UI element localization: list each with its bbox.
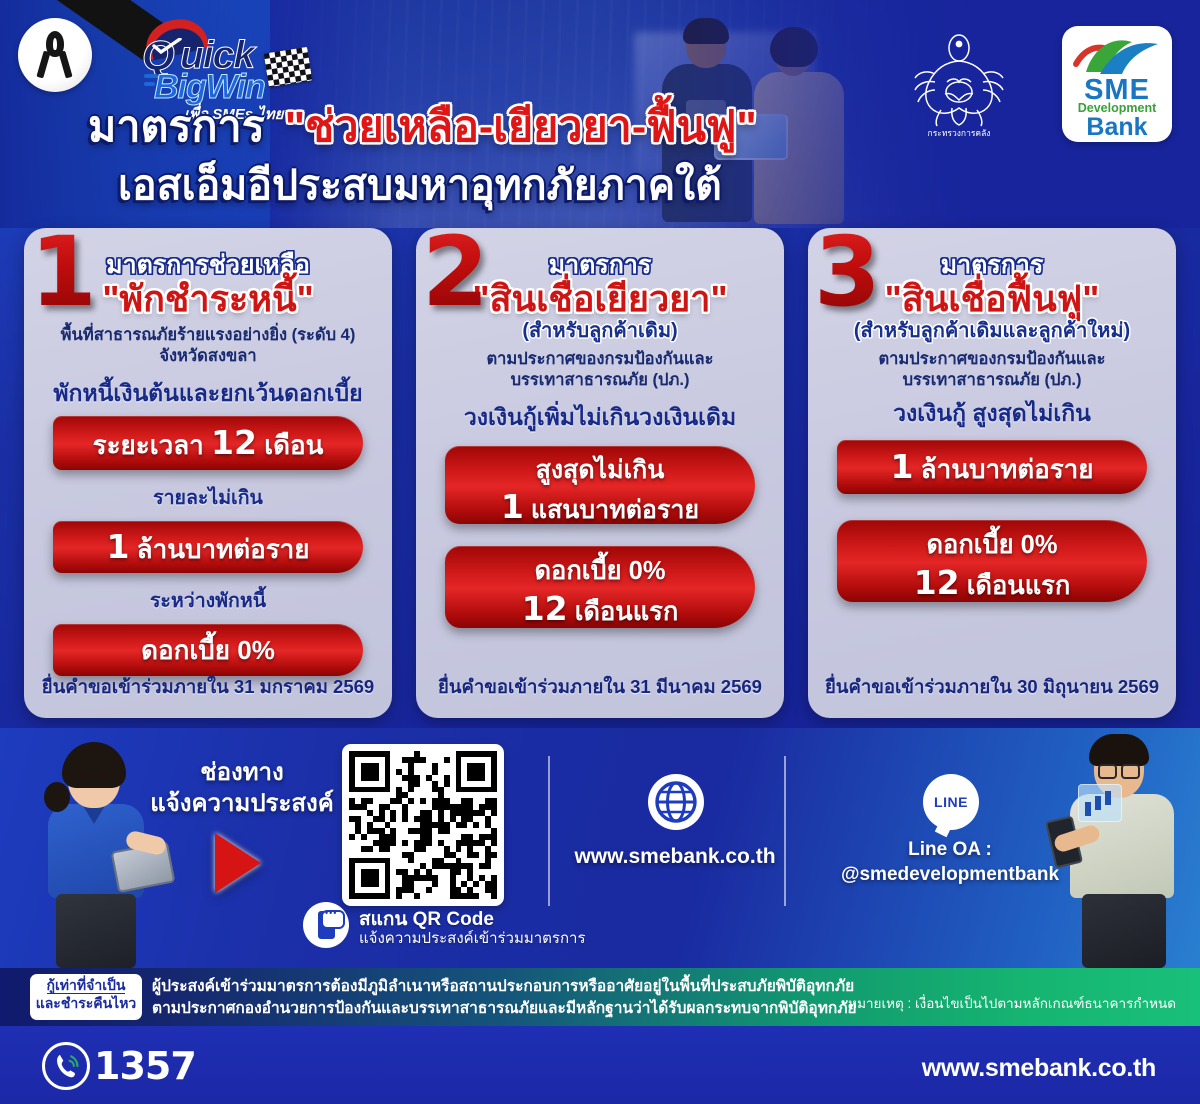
- sme-swoosh-icon: [1070, 34, 1164, 76]
- card1-pill1-num: 12: [211, 423, 257, 462]
- card3-pill-interest: ดอกเบี้ย 0% 12 เดือนแรก: [837, 520, 1147, 602]
- disclaimer-line1: ผู้ประสงค์เข้าร่วมมาตรการต้องมีภูมิลำเนา…: [152, 976, 857, 998]
- card3-note: ตามประกาศของกรมป้องกันและ บรรเทาสาธารณภั…: [824, 349, 1160, 391]
- disclaimer-text: ผู้ประสงค์เข้าร่วมมาตรการต้องมีภูมิลำเนา…: [152, 976, 857, 1020]
- garuda-emblem-icon: กระทรวงการคลัง: [905, 22, 1013, 140]
- measure-card-1[interactable]: 1 มาตรการช่วยเหลือ "พักชำระหนี้" พื้นที่…: [24, 228, 392, 718]
- sme-logo-line3: Bank: [1062, 114, 1172, 142]
- qr-scan-sub: แจ้งความประสงค์เข้าร่วมมาตรการ: [359, 926, 586, 950]
- card-number-2: 2: [422, 224, 489, 320]
- card2-pillB-line1: ดอกเบี้ย 0%: [445, 555, 755, 588]
- phone-chat-icon: [303, 902, 349, 948]
- card2-pillB-num: 12: [522, 589, 568, 628]
- quick-bigwin-logo: Q uick BigWin เพื่อ SMEs ไทย: [140, 16, 320, 116]
- card1-note: พื้นที่สาธารณภัยร้ายแรงอย่างยิ่ง (ระดับ …: [40, 325, 376, 367]
- card1-pill-amount: 1 ล้านบาทต่อราย: [53, 521, 363, 573]
- card3-pillA-post: ล้านบาทต่อราย: [921, 454, 1094, 484]
- disclaimer-line2: ตามประกาศกองอำนวยการป้องกันและบรรเทาสาธา…: [152, 998, 857, 1020]
- badge-line2: และชำระคืนไหว: [34, 995, 138, 1012]
- card2-pillB-post: เดือนแรก: [575, 598, 679, 626]
- card1-deadline: ยื่นคำขอเข้าร่วมภายใน 31 มกราคม 2569: [24, 673, 392, 702]
- title-highlight: "ช่วยเหลือ-เยียวยา-ฟื้นฟู": [285, 106, 757, 149]
- sme-bank-logo: SME Development Bank: [1062, 26, 1172, 142]
- line-icon-text: LINE: [923, 774, 979, 830]
- card1-mini3: ระหว่างพักหนี้: [40, 585, 376, 616]
- bottom-website[interactable]: www.smebank.co.th: [922, 1054, 1156, 1083]
- card2-pillA-post: แสนบาทต่อราย: [531, 496, 699, 524]
- hotline-number: 1357: [94, 1044, 196, 1088]
- title-measure-word: มาตรการ: [88, 106, 265, 149]
- title-subject: เอสเอ็มอีประสบมหาอุทกภัยภาคใต้: [118, 162, 722, 208]
- card1-pill-duration: ระยะเวลา 12 เดือน: [53, 416, 363, 470]
- bottom-bar: 1357 www.smebank.co.th: [0, 1026, 1200, 1104]
- card1-mini2: รายละไม่เกิน: [40, 482, 376, 513]
- card-number-1: 1: [30, 224, 97, 320]
- card2-pill-amount: สูงสุดไม่เกิน 1 แสนบาทต่อราย: [445, 446, 755, 524]
- qr-code-pattern: [349, 751, 497, 899]
- mourning-ribbon-icon: [18, 18, 92, 92]
- card2-note: ตามประกาศของกรมป้องกันและ บรรเทาสาธารณภั…: [432, 349, 768, 391]
- card3-pill-amount: 1 ล้านบาทต่อราย: [837, 440, 1147, 494]
- footer-disclaimer-bar: กู้เท่าที่จำเป็น และชำระคืนไหว ผู้ประสงค…: [0, 968, 1200, 1026]
- card1-pill-interest: ดอกเบี้ย 0%: [53, 624, 363, 676]
- responsible-lending-badge: กู้เท่าที่จำเป็น และชำระคืนไหว: [30, 974, 142, 1020]
- card1-pill1-post: เดือน: [264, 430, 323, 460]
- divider-2: [784, 756, 786, 906]
- main-title-row1: มาตรการ "ช่วยเหลือ-เยียวยา-ฟื้นฟู": [88, 106, 757, 149]
- card1-pill3-text: ดอกเบี้ย 0%: [141, 635, 275, 665]
- card3-pillA-num: 1: [890, 447, 913, 486]
- line-icon: LINE: [923, 774, 979, 830]
- card1-pill2-post: ล้านบาทต่อราย: [137, 534, 310, 564]
- card3-pillB-num: 12: [914, 563, 960, 602]
- check-icon: [152, 38, 182, 54]
- divider-1: [548, 756, 550, 906]
- measure-card-3[interactable]: 3 มาตรการ "สินเชื่อฟื้นฟู" (สำหรับลูกค้า…: [808, 228, 1176, 718]
- card-number-3: 3: [814, 224, 881, 320]
- card1-lead: พักหนี้เงินต้นและยกเว้นดอกเบี้ย: [40, 380, 376, 408]
- arrow-right-icon: [215, 833, 261, 893]
- card1-pill1-pre: ระยะเวลา: [93, 430, 204, 460]
- main-title-row2: เอสเอ็มอีประสบมหาอุทกภัยภาคใต้: [118, 165, 722, 206]
- footer-note: หมายเหตุ : เงื่อนไขเป็นไปตามหลักเกณฑ์ธนา…: [848, 992, 1176, 1014]
- card2-pillA-num: 1: [501, 487, 524, 526]
- website-block[interactable]: [622, 774, 730, 830]
- qr-scan-instruction: สแกน QR Code แจ้งความประสงค์เข้าร่วมมาตร…: [303, 902, 603, 950]
- badge-line1: กู้เท่าที่จำเป็น: [47, 977, 126, 994]
- svg-text:กระทรวงการคลัง: กระทรวงการคลัง: [928, 129, 991, 139]
- channel-label: ช่องทาง แจ้งความประสงค์: [132, 758, 352, 819]
- website-url[interactable]: www.smebank.co.th: [520, 845, 830, 869]
- line-oa-block[interactable]: LINE: [906, 774, 996, 830]
- qr-code[interactable]: [342, 744, 504, 906]
- card3-pillB-post: เดือนแรก: [967, 572, 1071, 600]
- card3-lead: วงเงินกู้ สูงสุดไม่เกิน: [824, 400, 1160, 428]
- card2-lead: วงเงินกู้เพิ่มไม่เกินวงเงินเดิม: [432, 404, 768, 432]
- card3-deadline: ยื่นคำขอเข้าร่วมภายใน 30 มิถุนายน 2569: [808, 673, 1176, 702]
- card2-pillA-line1: สูงสุดไม่เกิน: [445, 454, 755, 486]
- header-banner: Q uick BigWin เพื่อ SMEs ไทย มาตรการ "ช่…: [0, 0, 1200, 228]
- card3-pillB-line1: ดอกเบี้ย 0%: [837, 529, 1147, 562]
- card2-deadline: ยื่นคำขอเข้าร่วมภายใน 31 มีนาคม 2569: [416, 673, 784, 702]
- hotline-block[interactable]: 1357: [42, 1042, 196, 1090]
- line-oa-label[interactable]: Line OA : @smedevelopmentbank: [800, 838, 1100, 887]
- poster-root: Q uick BigWin เพื่อ SMEs ไทย มาตรการ "ช่…: [0, 0, 1200, 1104]
- checkered-flag-icon: [264, 47, 313, 87]
- globe-icon: [648, 774, 704, 830]
- card1-pill2-num: 1: [106, 527, 129, 566]
- card2-pill-interest: ดอกเบี้ย 0% 12 เดือนแรก: [445, 546, 755, 628]
- measure-card-2[interactable]: 2 มาตรการ "สินเชื่อเยียวยา" (สำหรับลูกค้…: [416, 228, 784, 718]
- phone-icon: [42, 1042, 90, 1090]
- measures-card-row: 1 มาตรการช่วยเหลือ "พักชำระหนี้" พื้นที่…: [0, 228, 1200, 728]
